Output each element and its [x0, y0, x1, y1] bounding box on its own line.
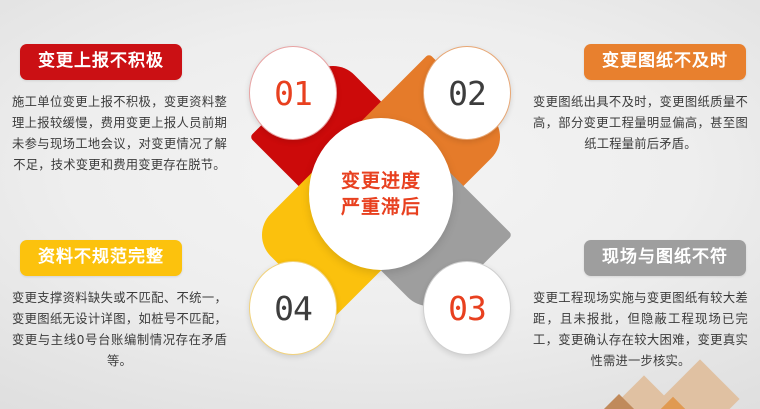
number-circle-03[interactable]: 03 — [423, 261, 511, 355]
badge-title-bottom-left[interactable]: 资料不规范完整 — [20, 240, 182, 276]
number-circle-01[interactable]: 01 — [249, 46, 337, 140]
content-block-top-left: 变更上报不积极 施工单位变更上报不积极，变更资料整理上报较缓慢，费用变更上报人员… — [6, 44, 231, 177]
central-x-diagram: 变更进度 严重滞后 01 02 03 04 — [238, 18, 523, 393]
badge-wrap-bottom-left: 资料不规范完整 — [6, 240, 231, 276]
number-label-02: 02 — [448, 77, 486, 110]
decorative-diamond-icon — [604, 375, 683, 409]
badge-wrap-top-right: 变更图纸不及时 — [529, 44, 754, 80]
badge-title-top-right[interactable]: 变更图纸不及时 — [584, 44, 746, 80]
badge-wrap-top-left: 变更上报不积极 — [6, 44, 231, 80]
decorative-diamond-icon — [652, 397, 694, 409]
center-title-line-2: 严重滞后 — [341, 194, 421, 220]
decorative-diamond-icon — [595, 394, 643, 409]
number-label-03: 03 — [448, 292, 486, 325]
body-text-top-right: 变更图纸出具不及时，变更图纸质量不高，部分变更工程量明显偏高，甚至图纸工程量前后… — [529, 92, 754, 155]
number-label-04: 04 — [274, 292, 312, 325]
center-label-circle: 变更进度 严重滞后 — [309, 118, 453, 270]
badge-title-bottom-right[interactable]: 现场与图纸不符 — [584, 240, 746, 276]
body-text-bottom-left: 变更支撑资料缺失或不匹配、不统一，变更图纸无设计详图，如桩号不匹配，变更与主线0… — [6, 288, 231, 373]
infographic-slide: 变更进度 严重滞后 01 02 03 04 变更上报不积极 施工单位变更上报不积… — [0, 0, 760, 409]
badge-title-top-left[interactable]: 变更上报不积极 — [20, 44, 182, 80]
content-block-top-right: 变更图纸不及时 变更图纸出具不及时，变更图纸质量不高，部分变更工程量明显偏高，甚… — [529, 44, 754, 155]
content-block-bottom-right: 现场与图纸不符 变更工程现场实施与变更图纸有较大差距，且未报批，但隐蔽工程现场已… — [529, 240, 754, 373]
body-text-bottom-right: 变更工程现场实施与变更图纸有较大差距，且未报批，但隐蔽工程现场已完工，变更确认存… — [529, 288, 754, 373]
badge-wrap-bottom-right: 现场与图纸不符 — [529, 240, 754, 276]
number-label-01: 01 — [274, 77, 312, 110]
center-title-line-1: 变更进度 — [341, 168, 421, 194]
number-circle-04[interactable]: 04 — [249, 261, 337, 355]
content-block-bottom-left: 资料不规范完整 变更支撑资料缺失或不匹配、不统一，变更图纸无设计详图，如桩号不匹… — [6, 240, 231, 373]
body-text-top-left: 施工单位变更上报不积极，变更资料整理上报较缓慢，费用变更上报人员前期未参与现场工… — [6, 92, 231, 177]
number-circle-02[interactable]: 02 — [423, 46, 511, 140]
